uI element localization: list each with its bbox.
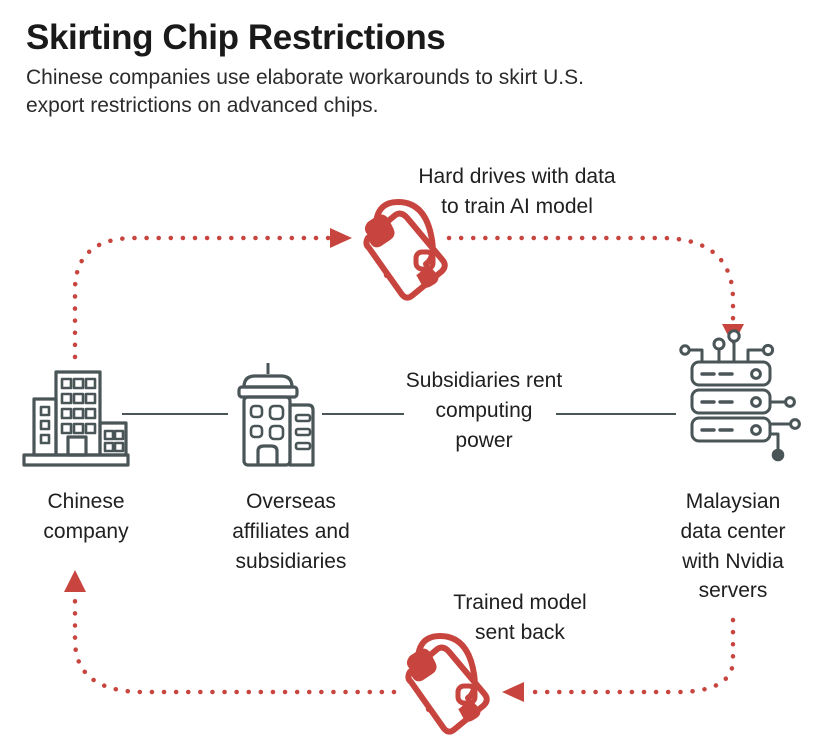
hard-drive-led-outbound <box>384 272 390 278</box>
flow-diagram: Chinese company Overseas affiliates and … <box>0 0 818 746</box>
hard-drive-icon-return <box>406 636 490 735</box>
flow-label-subsidiaries-rent: Subsidiaries rent computing power <box>372 366 596 455</box>
dotted-path-company-to-drive <box>75 238 351 357</box>
dotted-path-drive-to-datacenter <box>449 238 733 322</box>
dotted-path-drive-to-company <box>75 592 394 692</box>
overseas-building-icon <box>239 363 313 465</box>
node-label-overseas-affiliates: Overseas affiliates and subsidiaries <box>196 487 386 576</box>
flow-label-trained-model-sent-back: Trained model sent back <box>420 588 620 648</box>
flow-label-hard-drives-with-data: Hard drives with data to train AI model <box>378 162 656 222</box>
hard-drive-plug-return <box>409 650 436 680</box>
return-dotted-path <box>64 570 733 702</box>
infographic-page: Skirting Chip Restrictions Chinese compa… <box>0 0 818 746</box>
arrowhead-up-to-company <box>64 570 86 592</box>
arrowhead-right-to-drive <box>330 228 352 248</box>
office-building-icon <box>24 372 128 465</box>
node-label-malaysian-data-center: Malaysian data center with Nvidia server… <box>648 487 818 606</box>
outbound-dotted-path <box>75 228 744 357</box>
node-label-chinese-company: Chinese company <box>2 487 170 547</box>
server-rack-icon <box>681 331 800 460</box>
hard-drive-led-return <box>426 706 432 712</box>
arrowhead-left-to-drive <box>502 682 524 702</box>
